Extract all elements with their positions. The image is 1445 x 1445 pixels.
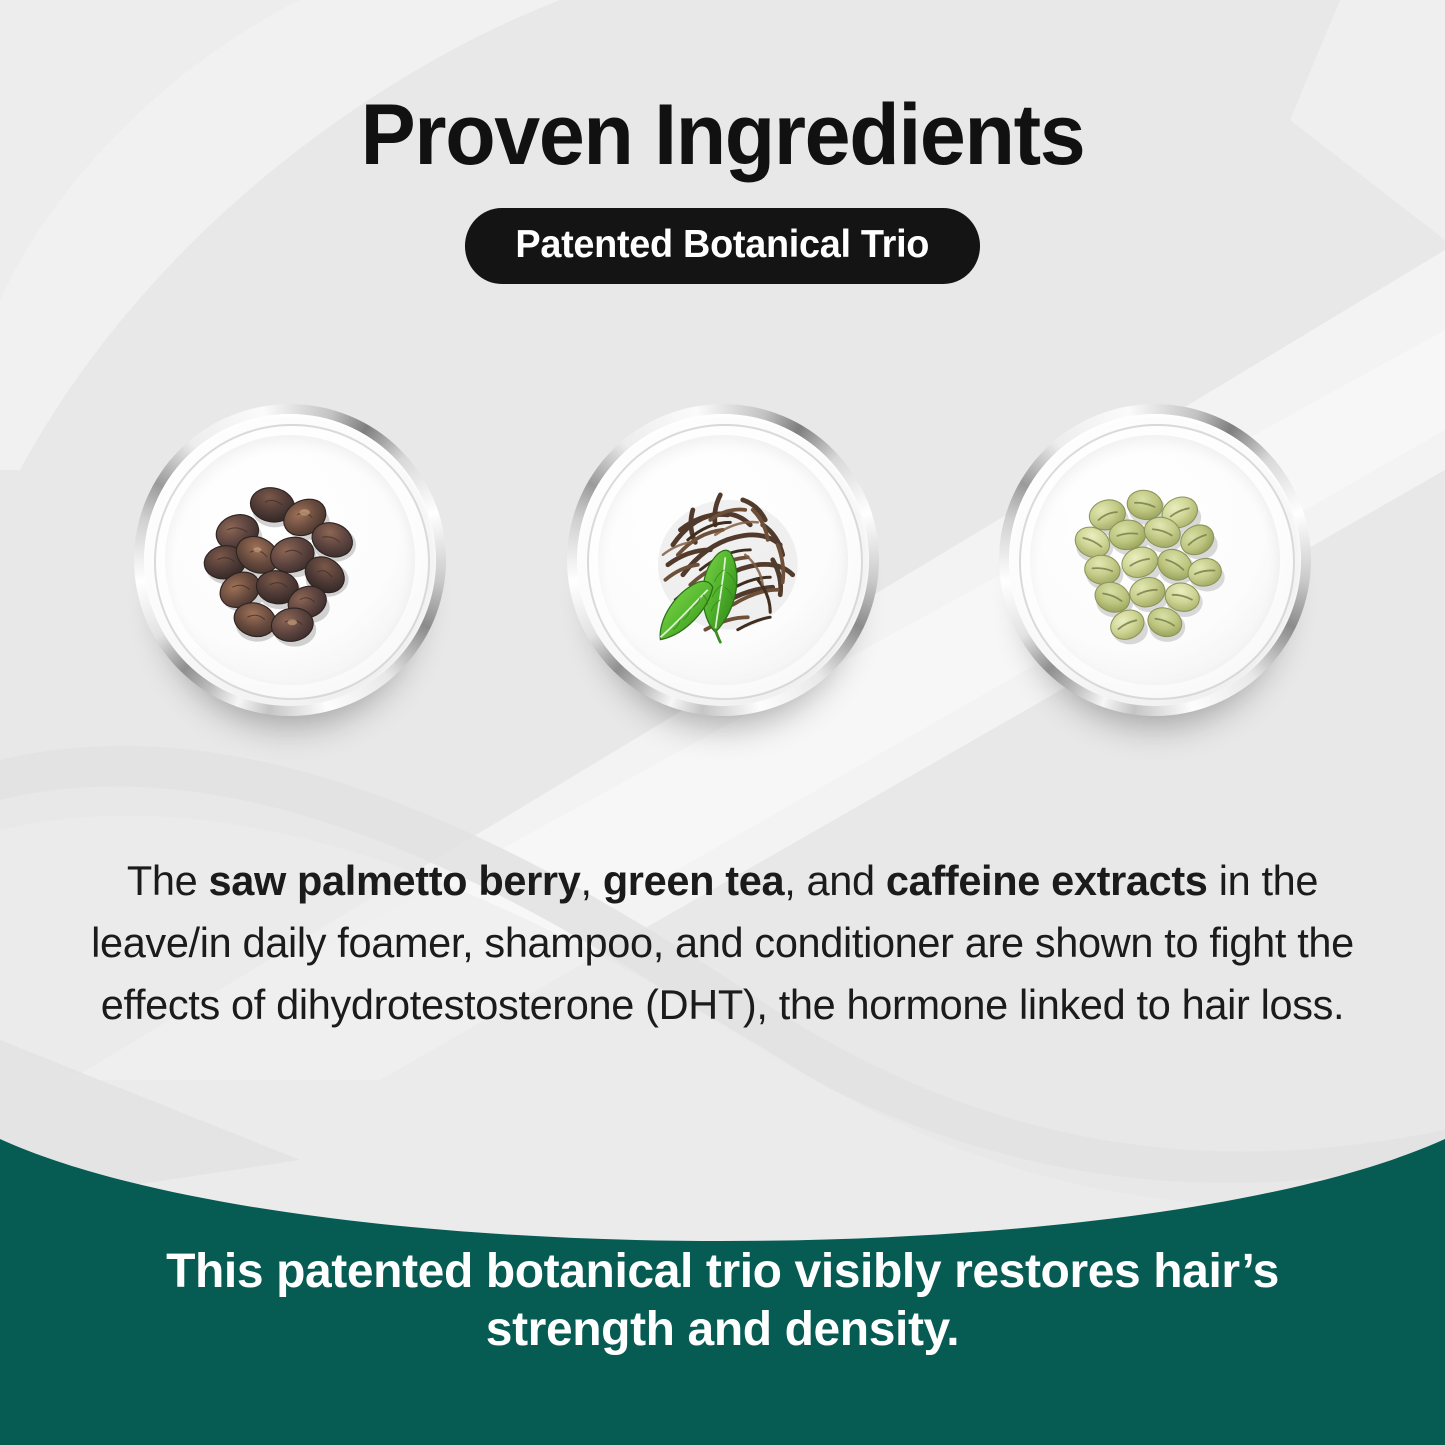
dish-well (598, 435, 848, 685)
description-bold-green-tea: green tea (603, 857, 784, 904)
ingredient-dish-saw-palmetto-berry (134, 404, 446, 716)
description-segment: , (580, 857, 602, 904)
status-badge: Patented Botanical Trio (465, 208, 980, 284)
description-segment: The (127, 857, 209, 904)
footer-banner: This patented botanical trio visibly res… (0, 1125, 1445, 1445)
badge-row: Patented Botanical Trio (0, 208, 1445, 284)
saw-palmetto-berries-icon (165, 435, 415, 685)
green-coffee-beans-icon (1030, 435, 1280, 685)
dish-well (1030, 435, 1280, 685)
description-segment: , and (784, 857, 886, 904)
green-tea-leaves-icon (598, 435, 848, 685)
header: Proven Ingredients Patented Botanical Tr… (0, 92, 1445, 284)
ingredient-dish-row (0, 404, 1445, 724)
footer-headline: This patented botanical trio visibly res… (78, 1243, 1367, 1358)
ingredient-dish-green-tea (567, 404, 879, 716)
description-bold-caffeine: caffeine extracts (886, 857, 1208, 904)
description-bold-saw-palmetto: saw palmetto berry (208, 857, 580, 904)
dish-well (165, 435, 415, 685)
ingredient-description: The saw palmetto berry, green tea, and c… (72, 850, 1373, 1037)
ingredient-dish-caffeine (999, 404, 1311, 716)
promo-graphic: Proven Ingredients Patented Botanical Tr… (0, 0, 1445, 1445)
page-title: Proven Ingredients (29, 92, 1416, 180)
